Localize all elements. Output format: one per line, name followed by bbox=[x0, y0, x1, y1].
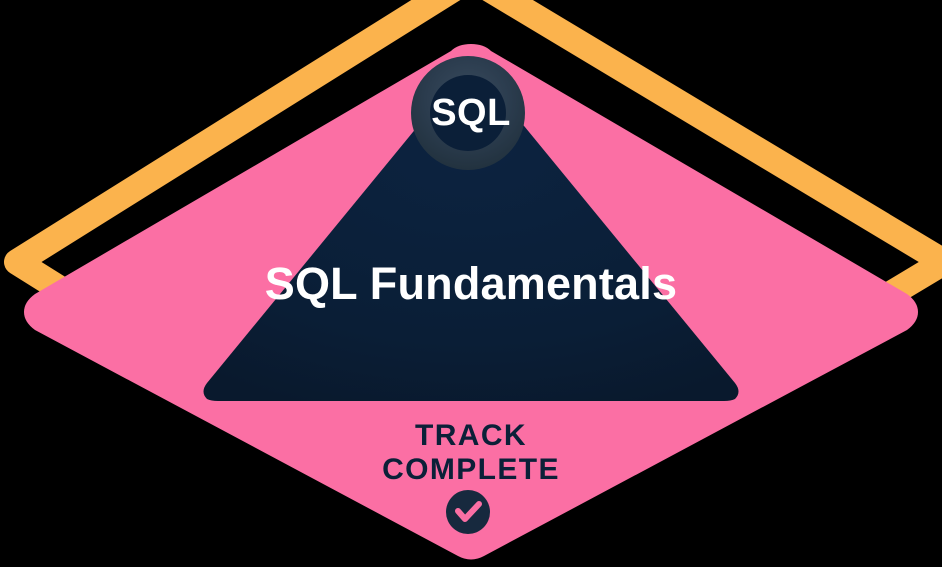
track-badge[interactable]: SQL SQL Fundamentals TRACK COMPLETE bbox=[0, 0, 942, 567]
badge-artwork bbox=[0, 0, 942, 567]
sql-ring-inner bbox=[430, 75, 506, 151]
